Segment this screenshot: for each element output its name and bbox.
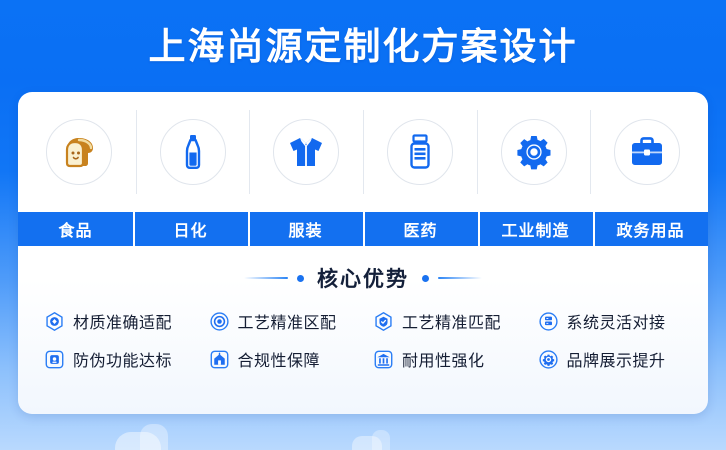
category-label-pharma[interactable]: 医药 bbox=[363, 212, 478, 246]
category-icon-cell-government[interactable] bbox=[590, 92, 704, 212]
category-label-industry[interactable]: 工业制造 bbox=[478, 212, 593, 246]
advantage-label: 工艺精准区配 bbox=[238, 309, 337, 333]
advantage-label: 防伪功能达标 bbox=[73, 347, 172, 371]
category-label-daily[interactable]: 日化 bbox=[133, 212, 248, 246]
advantage-label: 材质准确适配 bbox=[73, 309, 172, 333]
server-icon bbox=[538, 311, 559, 332]
core-advantages-heading: 核心优势 bbox=[18, 263, 708, 293]
advantage-item[interactable]: 工艺精准区配 bbox=[199, 309, 364, 333]
hex-target-icon bbox=[44, 311, 65, 332]
advantage-item[interactable]: 系统灵活对接 bbox=[528, 309, 693, 333]
shield-check-icon bbox=[373, 311, 394, 332]
category-icon-cell-food[interactable] bbox=[22, 92, 136, 212]
category-icon-cell-pharma[interactable] bbox=[363, 92, 477, 212]
header-banner: 上海尚源定制化方案设计 bbox=[0, 0, 726, 92]
content-card: 食品 日化 服装 医药 工业制造 政务用品 核心优势 bbox=[18, 92, 708, 414]
bread-icon bbox=[46, 119, 112, 185]
bottle-icon bbox=[160, 119, 226, 185]
medicine-icon bbox=[387, 119, 453, 185]
category-label-government[interactable]: 政务用品 bbox=[593, 212, 708, 246]
cloud-silhouette-left bbox=[115, 432, 161, 450]
circle-dot-icon bbox=[209, 311, 230, 332]
core-advantages-title: 核心优势 bbox=[317, 263, 409, 293]
gear-icon bbox=[501, 119, 567, 185]
advantage-label: 耐用性强化 bbox=[402, 347, 485, 371]
advantage-label: 品牌展示提升 bbox=[567, 347, 666, 371]
building-silhouette-center bbox=[372, 430, 390, 450]
category-label-apparel[interactable]: 服装 bbox=[248, 212, 363, 246]
category-icon-cell-apparel[interactable] bbox=[249, 92, 363, 212]
category-icon-cell-industry[interactable] bbox=[477, 92, 591, 212]
heading-rule-left bbox=[244, 277, 288, 279]
category-icon-cell-daily[interactable] bbox=[136, 92, 250, 212]
advantage-item[interactable]: 品牌展示提升 bbox=[528, 347, 693, 371]
house-icon bbox=[209, 349, 230, 370]
briefcase-icon bbox=[614, 119, 680, 185]
heading-dot-right bbox=[422, 275, 429, 282]
page-title: 上海尚源定制化方案设计 bbox=[149, 28, 578, 65]
category-label-bar: 食品 日化 服装 医药 工业制造 政务用品 bbox=[18, 212, 708, 246]
building-silhouette-left bbox=[140, 424, 168, 450]
badge-gear-icon bbox=[538, 349, 559, 370]
advantage-item[interactable]: 合规性保障 bbox=[199, 347, 364, 371]
advantage-label: 系统灵活对接 bbox=[567, 309, 666, 333]
heading-dot-left bbox=[297, 275, 304, 282]
anti-fake-icon bbox=[44, 349, 65, 370]
advantage-item[interactable]: 材质准确适配 bbox=[34, 309, 199, 333]
bank-icon bbox=[373, 349, 394, 370]
advantage-item[interactable]: 耐用性强化 bbox=[363, 347, 528, 371]
advantage-label: 合规性保障 bbox=[238, 347, 321, 371]
cloud-silhouette-center bbox=[352, 436, 382, 450]
shirt-icon bbox=[273, 119, 339, 185]
advantage-item[interactable]: 防伪功能达标 bbox=[34, 347, 199, 371]
heading-rule-right bbox=[438, 277, 482, 279]
poster-root: 上海尚源定制化方案设计 bbox=[0, 0, 726, 450]
advantage-label: 工艺精准匹配 bbox=[402, 309, 501, 333]
advantages-grid: 材质准确适配 工艺精准区配 bbox=[18, 293, 708, 371]
category-icon-strip bbox=[18, 92, 708, 212]
category-label-food[interactable]: 食品 bbox=[18, 212, 133, 246]
advantage-item[interactable]: 工艺精准匹配 bbox=[363, 309, 528, 333]
